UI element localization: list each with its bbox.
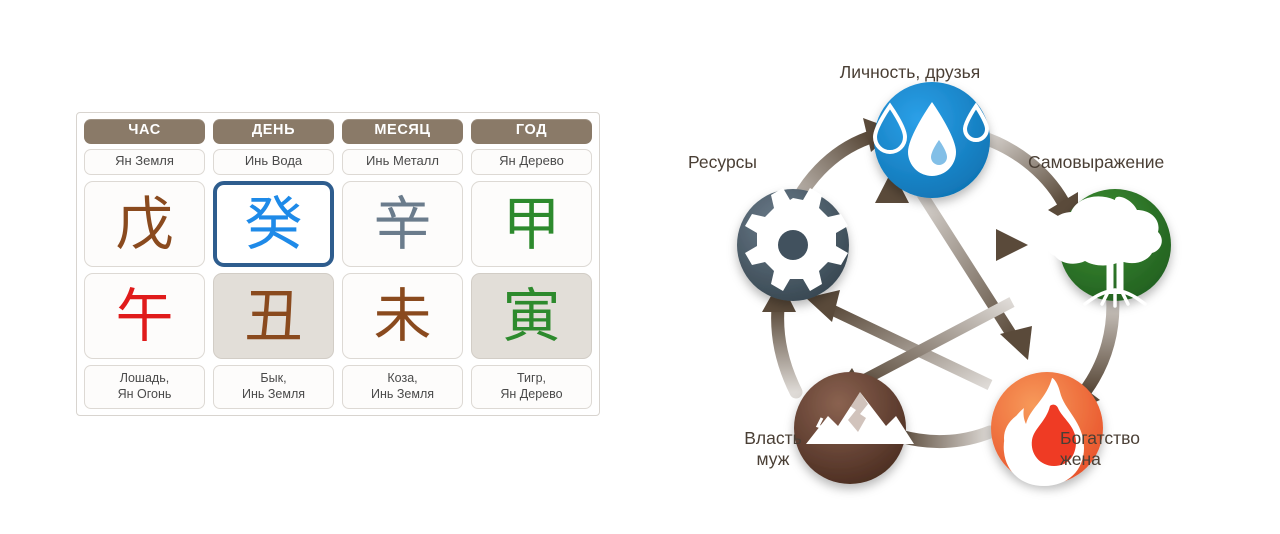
bazi-element-name-row: Ян Земля Инь Вода Инь Металл Ян Дерево [84,149,592,175]
branch-glyph-month: 未 [342,273,463,359]
bazi-header-row: ЧАС ДЕНЬ МЕСЯЦ ГОД [84,119,592,144]
branch-cell-year[interactable]: 寅 [471,273,592,359]
stem-glyph-day-selected: 癸 [213,181,334,267]
bazi-column-hour[interactable]: ЧАС [84,119,205,144]
bazi-earthly-branches-row: 午 丑 未 寅 [84,273,592,359]
bazi-column-month[interactable]: МЕСЯЦ [342,119,463,144]
animal-label-year: Тигр, Ян Дерево [471,365,592,409]
stem-cell-year[interactable]: 甲 [471,181,592,267]
element-name-cell-year: Ян Дерево [471,149,592,175]
animal-label-day: Бык, Инь Земля [213,365,334,409]
pillar-header-day: ДЕНЬ [213,119,334,144]
stem-cell-month[interactable]: 辛 [342,181,463,267]
animal-cell-hour: Лошадь, Ян Огонь [84,365,205,409]
animal-cell-year: Тигр, Ян Дерево [471,365,592,409]
animal-cell-month: Коза, Инь Земля [342,365,463,409]
wuxing-label-water: Личность, друзья [790,62,1030,83]
element-name-cell-month: Инь Металл [342,149,463,175]
element-name-cell-hour: Ян Земля [84,149,205,175]
stem-cell-hour[interactable]: 戊 [84,181,205,267]
wuxing-label-metal: Ресурсы [688,152,828,173]
bazi-animal-row: Лошадь, Ян Огонь Бык, Инь Земля Коза, Ин… [84,365,592,409]
arrow-water-to-fire [918,188,1032,360]
pillar-header-hour: ЧАС [84,119,205,144]
branch-glyph-hour: 午 [84,273,205,359]
wuxing-label-wood: Самовыражение [1028,152,1258,173]
animal-label-hour: Лошадь, Ян Огонь [84,365,205,409]
pillar-header-month: МЕСЯЦ [342,119,463,144]
element-name-cell-day: Инь Вода [213,149,334,175]
bazi-column-day[interactable]: ДЕНЬ [213,119,334,144]
bazi-heavenly-stems-row: 戊 癸 辛 甲 [84,181,592,267]
branch-glyph-day: 丑 [213,273,334,359]
animal-cell-day: Бык, Инь Земля [213,365,334,409]
branch-cell-month[interactable]: 未 [342,273,463,359]
arrow-fire-to-metal [806,290,990,385]
bazi-column-year[interactable]: ГОД [471,119,592,144]
stem-glyph-month: 辛 [342,181,463,267]
stem-glyph-hour: 戊 [84,181,205,267]
wuxing-label-fire: Богатство жена [1060,428,1240,469]
branch-cell-day[interactable]: 丑 [213,273,334,359]
element-name-year: Ян Дерево [471,149,592,175]
controlling-cycle-arrows [806,170,1032,396]
bazi-chart-panel: ЧАС ДЕНЬ МЕСЯЦ ГОД Ян Земля Инь Вода Инь… [76,112,600,416]
branch-cell-hour[interactable]: 午 [84,273,205,359]
pillar-header-year: ГОД [471,119,592,144]
branch-glyph-year: 寅 [471,273,592,359]
element-name-day: Инь Вода [213,149,334,175]
stem-glyph-year: 甲 [471,181,592,267]
wuxing-label-earth: Власть муж [708,428,838,469]
animal-label-month: Коза, Инь Земля [342,365,463,409]
element-name-month: Инь Металл [342,149,463,175]
stem-cell-day[interactable]: 癸 [213,181,334,267]
element-name-hour: Ян Земля [84,149,205,175]
five-elements-cycle-diagram: Личность, друзья Ресурсы Самовыражение В… [660,40,1260,500]
